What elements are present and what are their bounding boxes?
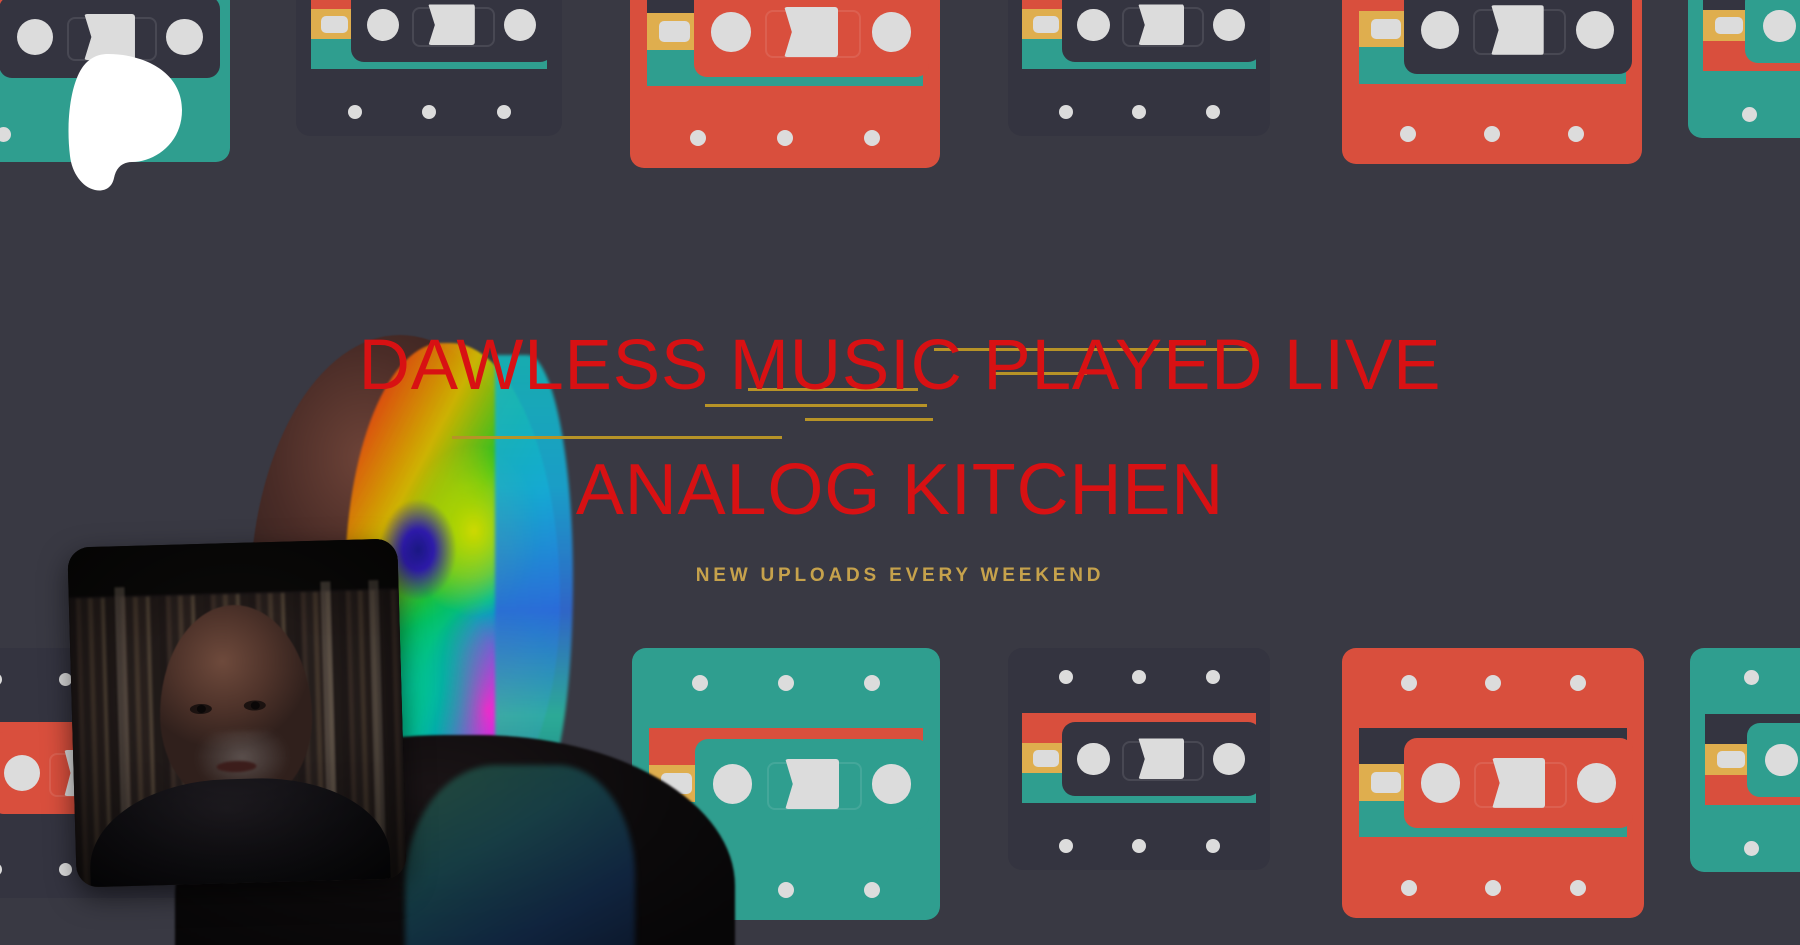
cassette-inner-panel [1404,0,1632,74]
cassette-inner-panel [1745,0,1800,63]
portrait-body-glitch [405,765,635,945]
cassette-inner-panel [1062,0,1261,62]
cassette-screw [1568,126,1584,142]
cassette-screw [864,882,880,898]
cassette-screw [1570,880,1586,896]
cassette-reel [504,9,536,41]
cassette-reel [1577,763,1616,802]
cassette-tape-spool [1491,5,1543,55]
cassette-tape-spool [428,4,474,45]
cassette-screw [1484,126,1500,142]
cassette-screw [1570,675,1586,691]
cassette-inner-panel [1062,722,1261,795]
cassette-tape-icon [1008,0,1270,136]
cassette-reel [166,19,202,55]
cassette-reel [367,9,399,41]
cassette-reel [1421,763,1460,802]
cassette-screw [690,130,706,146]
cassette-inner-panel [351,0,553,62]
cassette-label-chip [1371,772,1401,792]
cassette-screw [59,673,72,686]
cassette-screw [1742,107,1757,122]
cassette-inner-panel [695,739,929,829]
cassette-tape-icon [296,0,562,136]
cassette-tape-icon [1690,648,1800,872]
cassette-tape-icon [1342,0,1642,164]
cassette-screw [1485,880,1501,896]
cassette-screw [0,863,2,876]
cassette-screw [1059,105,1073,119]
cassette-reel [872,12,911,51]
cassette-screw [422,105,436,119]
cassette-label-chip [1715,17,1743,34]
cassette-screw [1401,675,1417,691]
cassette-screw [1401,880,1417,896]
cassette-reel [711,12,750,51]
cassette-screw [59,863,72,876]
thumbnail-vignette [67,538,406,887]
cassette-screw [0,127,11,142]
cassette-reel [1763,10,1796,43]
cassette-screw [778,882,794,898]
cassette-inner-panel [1747,723,1800,797]
cassette-tape-icon [1688,0,1800,138]
cassette-screw [1059,839,1073,853]
cassette-reel [713,764,752,803]
cassette-screw [1132,839,1146,853]
cassette-label-chip [1033,16,1059,33]
cassette-label-chip [659,21,690,42]
cassette-tape-icon [1342,648,1644,918]
cassette-tape-spool [1492,758,1545,808]
cassette-reel [1576,11,1615,50]
cassette-tape-spool [1138,738,1184,779]
cassette-reel [1421,11,1460,50]
cassette-tape-icon [1008,648,1270,870]
cassette-label-chip [321,16,348,33]
cassette-screw [497,105,511,119]
cassette-reel [4,755,40,791]
patreon-logo[interactable] [62,52,190,192]
cassette-inner-panel [694,0,930,77]
cassette-reel [1765,744,1798,777]
cassette-tape-spool [785,759,839,809]
cassette-screw [1132,105,1146,119]
cassette-tape-icon [630,0,940,168]
cassette-reel [1077,743,1109,775]
cassette-screw [777,130,793,146]
cassette-reel [1213,9,1245,41]
cassette-reel [17,19,53,55]
cassette-screw [1132,670,1146,684]
cassette-tape-spool [1138,4,1184,45]
cassette-screw [1059,670,1073,684]
cassette-screw [1206,670,1220,684]
cassette-reel [1077,9,1109,41]
cassette-reel [1213,743,1245,775]
cassette-screw [1400,126,1416,142]
video-thumbnail[interactable] [67,538,406,887]
cassette-reel [872,764,911,803]
portrait-head-rim [495,355,573,795]
cassette-screw [1485,675,1501,691]
cassette-screw [864,130,880,146]
cassette-tape-spool [784,7,838,57]
page-stage: DAWLESS MUSIC PLAYED LIVE ANALOG KITCHEN… [0,0,1800,945]
cassette-screw [1744,670,1759,685]
cassette-screw [0,673,2,686]
cassette-screw [864,675,880,691]
cassette-screw [778,675,794,691]
cassette-screw [1744,841,1759,856]
cassette-label-chip [1033,750,1059,767]
cassette-label-chip [1371,19,1401,39]
cassette-screw [1206,839,1220,853]
cassette-label-chip [1717,751,1745,768]
cassette-screw [348,105,362,119]
cassette-screw [1206,105,1220,119]
cassette-inner-panel [1404,738,1634,827]
